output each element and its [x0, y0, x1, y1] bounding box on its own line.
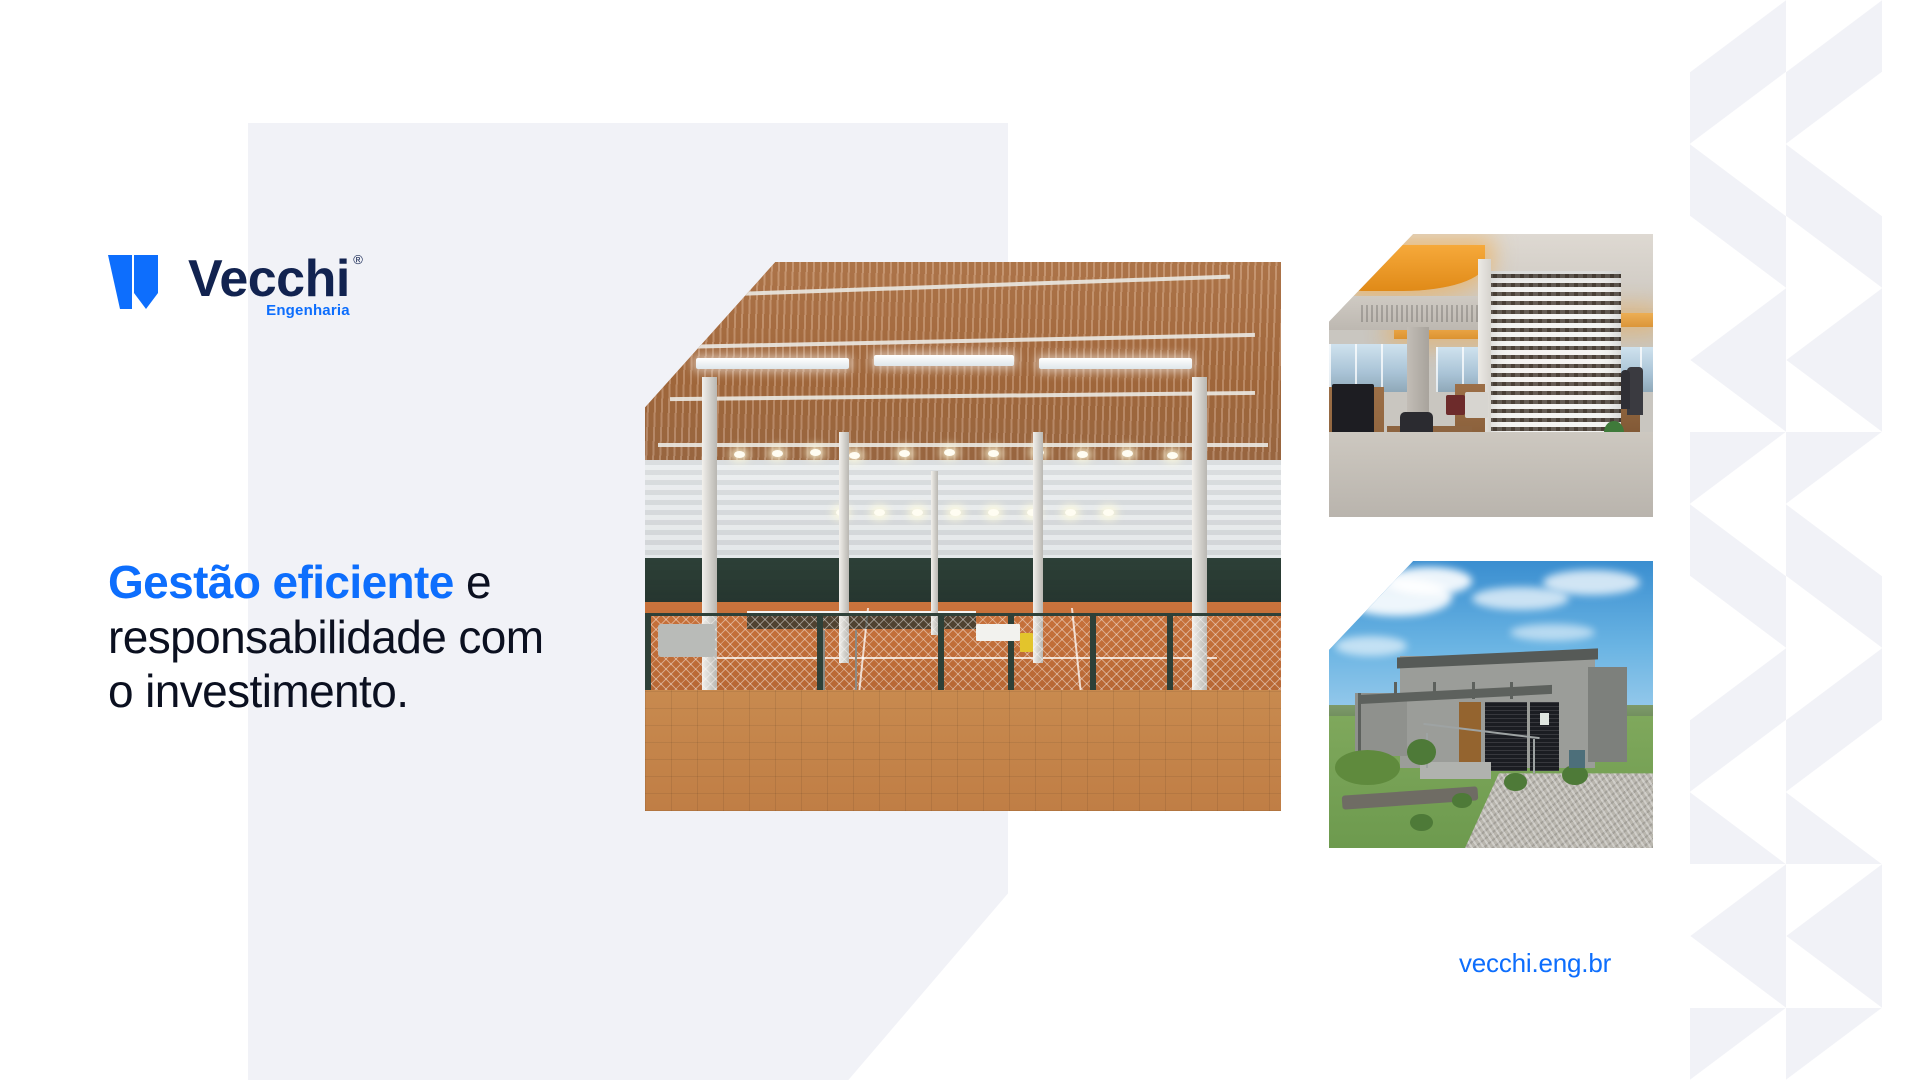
photo-indoor-tennis-facility [645, 262, 1281, 811]
logo-wordmark-wrap: Vecchi ® Engenharia [188, 253, 350, 305]
slide-canvas: Vecchi ® Engenharia Gestão eficiente e r… [0, 0, 1920, 1080]
vecchi-v-logomark [108, 253, 170, 311]
building-scene [1329, 561, 1653, 848]
brand-logo[interactable]: Vecchi ® Engenharia [108, 253, 350, 311]
photo-building-exterior [1329, 561, 1653, 848]
registered-trademark-icon: ® [353, 253, 363, 266]
page-title: Gestão eficiente e responsabilidade com … [108, 555, 578, 719]
office-scene [1329, 234, 1653, 517]
headline-emphasis: Gestão eficiente [108, 556, 454, 608]
foreground-floor [645, 690, 1281, 811]
triangle-grid-pattern [1690, 0, 1882, 1080]
website-url[interactable]: vecchi.eng.br [1459, 948, 1611, 979]
logo-tagline: Engenharia [266, 303, 350, 318]
tennis-scene [645, 262, 1281, 811]
logo-wordmark: Vecchi [188, 253, 350, 305]
photo-office-interior [1329, 234, 1653, 517]
